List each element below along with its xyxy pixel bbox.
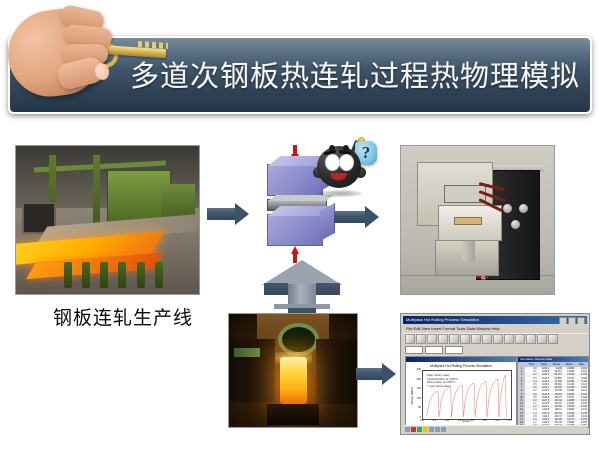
cabinet-knob	[511, 220, 520, 229]
status-icon-ok[interactable]	[417, 427, 422, 432]
status-icon-d[interactable]	[441, 427, 446, 432]
toolbar-icon-open[interactable]	[416, 334, 426, 344]
hand-holding-key-icon	[0, 0, 150, 110]
arrow-wing-left	[264, 283, 288, 295]
toolbar-icon-cut[interactable]	[449, 334, 459, 344]
software-status-bar	[403, 425, 587, 432]
chart-window: Multipass Hot Rolling Process Simulation…	[405, 356, 517, 428]
compression-die-right	[316, 339, 357, 405]
software-title-bar: Multipass Hot Rolling Process Simulation	[403, 316, 587, 324]
cabinet-knob	[503, 204, 512, 213]
steel-plate-rolling-mill-photo	[15, 145, 200, 295]
arrow-head	[262, 260, 342, 285]
chart-x-tick: 0.4	[466, 419, 478, 422]
chart-x-tick: 0.7	[504, 419, 516, 422]
maximize-button[interactable]	[568, 317, 576, 324]
bomb-pupil-left	[329, 145, 335, 152]
toolbar-icon-new[interactable]	[405, 334, 415, 344]
toolbar-icon-print[interactable]	[438, 334, 448, 344]
toolbar-icon-save[interactable]	[427, 334, 437, 344]
software-window-title: Multipass Hot Rolling Process Simulation	[406, 317, 479, 322]
chart-series-pass-1	[427, 391, 439, 417]
status-icon-warn[interactable]	[423, 427, 428, 432]
chart-y-tick: 150	[413, 387, 421, 390]
chart-y-tick: 50	[413, 406, 421, 409]
bomb-eye-right	[339, 154, 354, 171]
chart-x-tick: 0.2	[441, 419, 453, 422]
arrow-head	[365, 206, 379, 228]
furnace-base-shadow	[267, 404, 318, 424]
chart-y-tick: 200	[413, 378, 421, 381]
simulation-software-screenshot: Multipass Hot Rolling Process Simulation…	[400, 313, 590, 435]
minimize-button[interactable]	[559, 317, 567, 324]
furnace-fixture-edge	[234, 348, 260, 357]
furnace-port-ring	[278, 323, 319, 356]
flow-arrow-furnace-to-anvil	[262, 260, 342, 315]
status-icon-a[interactable]	[405, 427, 410, 432]
roller-table-roll	[82, 262, 90, 288]
chamber-specimen	[454, 217, 482, 225]
chart-x-tick: 0.0	[416, 419, 428, 422]
chart-series-pass-5	[475, 381, 487, 417]
chart-x-tick: 0.5	[479, 419, 491, 422]
table-body[interactable]: 10.01150.20.0000.00000.10020.11148.618.4…	[518, 367, 588, 427]
chart-series-pass-4	[463, 383, 475, 417]
bomb-pupil-right	[343, 145, 349, 152]
arrow-shaft	[207, 208, 236, 220]
roller-table-roll	[155, 262, 163, 288]
cabinet-knob	[519, 204, 528, 213]
flow-arrow-anvil-to-gleeble	[334, 206, 379, 228]
status-icon-record[interactable]	[411, 427, 416, 432]
chart-series-pass-6	[487, 379, 499, 417]
roller-table-roll	[137, 262, 145, 288]
arrow-shaft	[334, 211, 366, 223]
toolbar-icon-chart[interactable]	[504, 334, 514, 344]
glowing-hot-specimen	[280, 357, 307, 404]
arrow-wing-right	[316, 283, 340, 295]
bomb-shadow	[318, 190, 362, 197]
roller-table-roll	[64, 262, 72, 288]
close-button[interactable]	[577, 317, 585, 324]
bomb-eye-left	[325, 154, 340, 171]
software-menu-bar[interactable]: File Edit View Insert Format Tools Data …	[403, 325, 587, 332]
toolbar-icon-run[interactable]	[515, 334, 525, 344]
hot-specimen-compression-photo	[228, 313, 358, 428]
toolbar-dropdown-size[interactable]	[425, 346, 443, 354]
status-icon-b[interactable]	[429, 427, 434, 432]
chart-series-pass-3	[451, 385, 463, 417]
chart-annotation: Plain carbon steel Austenitization at 11…	[427, 374, 458, 388]
gleeble-thermal-simulator-photo: GLEEBLE SYSTEM	[400, 145, 555, 295]
software-toolbar-secondary[interactable]	[403, 345, 587, 354]
flow-arrow-mill-to-anvil	[207, 203, 249, 225]
toolbar-dropdown-style[interactable]	[445, 346, 463, 354]
roller-table-roll	[100, 262, 108, 288]
stress-strain-plot: Plain carbon steel Austenitization at 11…	[422, 370, 512, 420]
mill-photo-caption: 钢板连轧生产线	[28, 303, 218, 330]
toolbar-icon-copy[interactable]	[460, 334, 470, 344]
data-table-window: Simulation Results Data TimeTempStressSt…	[517, 356, 589, 428]
status-icon-c[interactable]	[435, 427, 440, 432]
roller-table-roll	[118, 262, 126, 288]
chart-series-pass-7	[499, 375, 507, 417]
arrow-head	[235, 203, 249, 225]
lower-anvil	[267, 214, 323, 246]
toolbar-icon-undo[interactable]	[482, 334, 492, 344]
chart-y-tick: 250	[413, 368, 421, 371]
toolbar-icon-paste[interactable]	[471, 334, 481, 344]
toolbar-icon-zoom[interactable]	[537, 334, 547, 344]
toolbar-icon-redo[interactable]	[493, 334, 503, 344]
chart-series-pass-2	[439, 387, 451, 417]
arrow-shaft	[288, 284, 316, 306]
toolbar-icon-stop[interactable]	[526, 334, 536, 344]
arrow-shaft	[356, 368, 383, 380]
chart-title: Multipass Hot Rolling Process Simulation	[406, 364, 516, 368]
chart-x-tick: 0.1	[429, 419, 441, 422]
chart-x-tick: 0.3	[454, 419, 466, 422]
arrow-head	[382, 363, 396, 385]
thinking-bomb-character: ?	[313, 140, 377, 200]
page-title: 多道次钢板热连轧过程热物理模拟	[130, 53, 580, 95]
window-control-buttons[interactable]	[559, 317, 585, 324]
toolbar-icon-help[interactable]	[548, 334, 558, 344]
chart-window-title-bar	[406, 357, 516, 362]
toolbar-dropdown-font[interactable]	[405, 346, 423, 354]
software-toolbar-primary[interactable]	[403, 333, 587, 344]
chart-x-tick: 0.6	[491, 419, 503, 422]
chart-y-tick: 100	[413, 397, 421, 400]
anvil-side-face	[320, 203, 335, 241]
flow-arrow-furnace-to-software	[356, 363, 396, 385]
